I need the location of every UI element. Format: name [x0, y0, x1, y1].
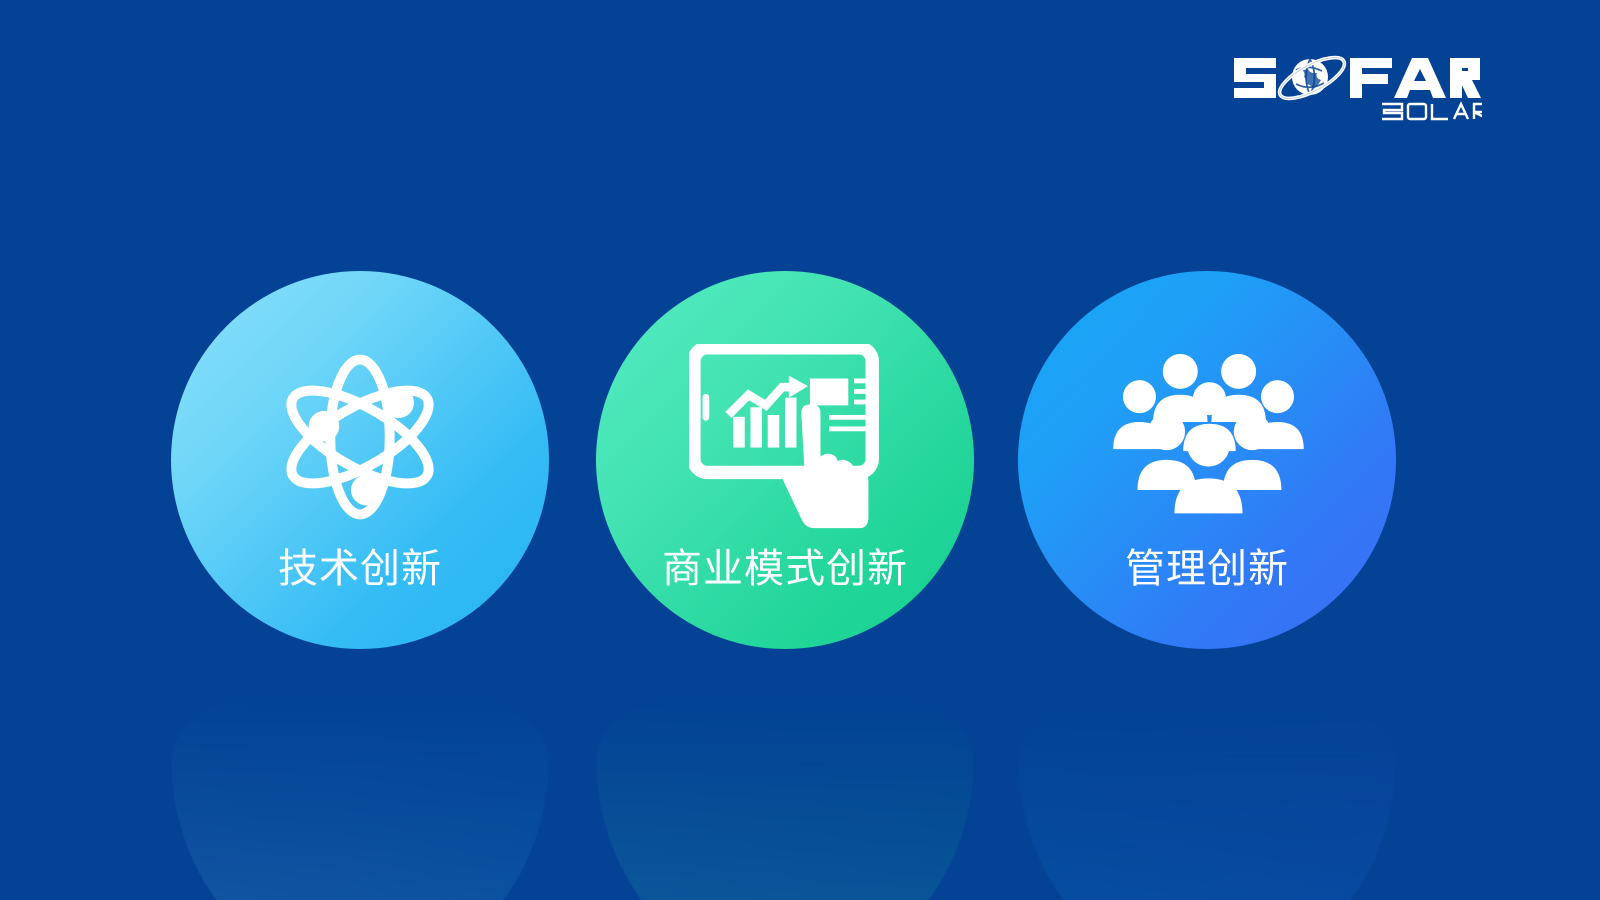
- pillar-card-technology-innovation[interactable]: 技术创新: [171, 271, 549, 649]
- pillar-label: 管理创新: [1018, 549, 1396, 589]
- pillar-disc: 商业模式创新: [596, 271, 974, 649]
- tablet-chart-hand-icon: [685, 337, 885, 537]
- slide-canvas: 技术创新: [0, 0, 1600, 900]
- pillar-card-management-innovation[interactable]: 管理创新: [1018, 271, 1396, 649]
- pillar-disc: 技术创新: [171, 271, 549, 649]
- people-group-icon: [1107, 337, 1307, 537]
- pillar-disc: 管理创新: [1018, 271, 1396, 649]
- atom-icon: [260, 337, 460, 537]
- pillar-label: 技术创新: [171, 549, 549, 589]
- pillar-card-business-model-innovation[interactable]: 商业模式创新: [596, 271, 974, 649]
- innovation-pillars-row: 技术创新: [0, 0, 1600, 900]
- pillar-label: 商业模式创新: [596, 549, 974, 589]
